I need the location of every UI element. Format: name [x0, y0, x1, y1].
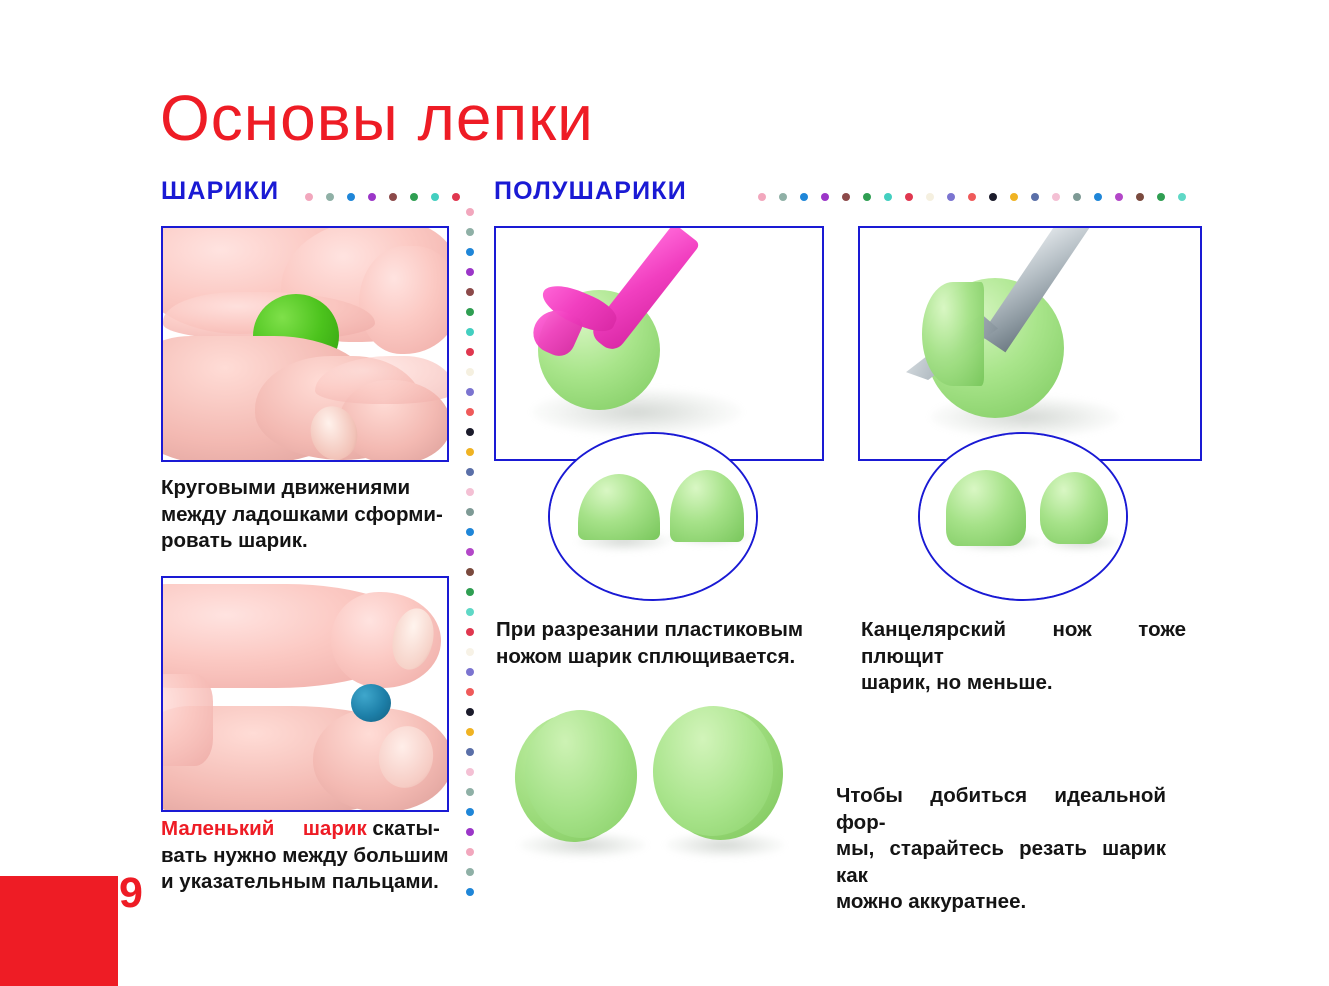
photo-fingers-small-ball — [161, 576, 449, 812]
decorative-dot — [1157, 193, 1165, 201]
decorative-dot — [347, 193, 355, 201]
caption-plastic-knife: При разрезании пластиковым ножом шарик с… — [496, 617, 808, 670]
section-heading-balls: ШАРИКИ — [161, 177, 279, 206]
decorative-dot — [466, 628, 474, 636]
dotted-column-divider — [466, 208, 478, 908]
decorative-dot — [410, 193, 418, 201]
decorative-dot — [466, 748, 474, 756]
caption-accuracy-line3: можно аккуратнее. — [836, 889, 1166, 916]
photo-utility-knife-cut-image — [860, 228, 1200, 459]
decorative-dot — [466, 768, 474, 776]
decorative-dot — [466, 228, 474, 236]
photo-fingers-small-ball-image — [163, 578, 447, 810]
photo-hands-rolling-ball-image — [163, 228, 447, 460]
caption-small-ball: Маленький шарик скаты- вать нужно между … — [161, 816, 454, 896]
decorative-dot — [863, 193, 871, 201]
decorative-dot — [326, 193, 334, 201]
decorative-dot — [466, 828, 474, 836]
caption-small-ball-line1: Маленький шарик скаты- — [161, 816, 454, 843]
caption-rolling-ball-line3: ровать шарик. — [161, 528, 449, 555]
decorative-dot — [947, 193, 955, 201]
decorative-dot — [466, 328, 474, 336]
decorative-dot — [466, 808, 474, 816]
caption-accuracy-line1: Чтобы добиться идеальной фор- — [836, 783, 1166, 836]
decorative-dot — [466, 548, 474, 556]
dotted-rule-halves — [758, 193, 1198, 205]
page-number: 9 — [119, 872, 143, 915]
decorative-dot — [466, 468, 474, 476]
decorative-dot — [466, 308, 474, 316]
caption-accent-word-2: шарик — [303, 817, 367, 840]
decorative-dot — [466, 648, 474, 656]
caption-utility-knife: Канцелярский нож тоже плющит шарик, но м… — [861, 617, 1186, 697]
caption-rolling-ball: Круговыми движениями между ладошками сфо… — [161, 475, 449, 555]
decorative-dot — [305, 193, 313, 201]
inset-utility-knife-halves — [918, 432, 1128, 601]
decorative-dot — [1178, 193, 1186, 201]
decorative-dot — [466, 368, 474, 376]
decorative-dot — [466, 688, 474, 696]
decorative-dot — [466, 728, 474, 736]
decorative-dot — [466, 428, 474, 436]
decorative-dot — [1073, 193, 1081, 201]
photo-plastic-knife-cut-image — [496, 228, 822, 459]
inset-plastic-knife-halves-image — [550, 434, 756, 599]
decorative-dot — [452, 193, 460, 201]
decorative-dot — [1052, 193, 1060, 201]
decorative-dot — [431, 193, 439, 201]
caption-accent-word-1: Маленький — [161, 817, 274, 840]
caption-plastic-knife-line2: ножом шарик сплющивается. — [496, 644, 808, 671]
decorative-dot — [800, 193, 808, 201]
page-title: Основы лепки — [160, 86, 594, 150]
photo-plastic-knife-cut — [494, 226, 824, 461]
caption-small-ball-line2: вать нужно между большим — [161, 843, 454, 870]
decorative-dot — [758, 193, 766, 201]
decorative-dot — [1094, 193, 1102, 201]
decorative-dot — [1010, 193, 1018, 201]
decorative-dot — [466, 508, 474, 516]
decorative-dot — [466, 588, 474, 596]
decorative-dot — [466, 208, 474, 216]
decorative-dot — [368, 193, 376, 201]
page-root: Основы лепки ШАРИКИ ПОЛУШАРИКИ — [0, 0, 1329, 986]
decorative-dot — [466, 408, 474, 416]
section-heading-halves: ПОЛУШАРИКИ — [494, 177, 687, 206]
decorative-dot — [466, 448, 474, 456]
decorative-dot — [989, 193, 997, 201]
decorative-dot — [466, 268, 474, 276]
caption-utility-knife-line2: шарик, но меньше. — [861, 670, 1186, 697]
decorative-dot — [389, 193, 397, 201]
decorative-dot — [466, 528, 474, 536]
decorative-dot — [1115, 193, 1123, 201]
decorative-dot — [466, 668, 474, 676]
decorative-dot — [466, 488, 474, 496]
photo-two-discs — [497, 694, 797, 869]
decorative-dot — [926, 193, 934, 201]
red-corner-block — [0, 876, 118, 986]
decorative-dot — [968, 193, 976, 201]
decorative-dot — [466, 608, 474, 616]
decorative-dot — [842, 193, 850, 201]
decorative-dot — [466, 348, 474, 356]
decorative-dot — [884, 193, 892, 201]
decorative-dot — [905, 193, 913, 201]
caption-small-ball-line3: и указательным пальцами. — [161, 869, 454, 896]
caption-utility-knife-line1: Канцелярский нож тоже плющит — [861, 617, 1186, 670]
caption-accuracy-line2: мы, старайтесь резать шарик как — [836, 836, 1166, 889]
inset-plastic-knife-halves — [548, 432, 758, 601]
decorative-dot — [466, 708, 474, 716]
caption-accuracy: Чтобы добиться идеальной фор- мы, старай… — [836, 783, 1166, 916]
photo-hands-rolling-ball — [161, 226, 449, 462]
caption-rolling-ball-line2: между ладошками сформи- — [161, 502, 449, 529]
decorative-dot — [466, 248, 474, 256]
decorative-dot — [466, 288, 474, 296]
decorative-dot — [466, 788, 474, 796]
decorative-dot — [1031, 193, 1039, 201]
inset-utility-knife-halves-image — [920, 434, 1126, 599]
caption-small-ball-rest1: скаты- — [372, 817, 439, 840]
decorative-dot — [779, 193, 787, 201]
dotted-rule-balls — [305, 193, 460, 205]
decorative-dot — [1136, 193, 1144, 201]
caption-plastic-knife-line1: При разрезании пластиковым — [496, 617, 808, 644]
decorative-dot — [466, 868, 474, 876]
decorative-dot — [466, 848, 474, 856]
photo-two-discs-image — [497, 694, 797, 869]
photo-utility-knife-cut — [858, 226, 1202, 461]
caption-rolling-ball-line1: Круговыми движениями — [161, 475, 449, 502]
decorative-dot — [466, 568, 474, 576]
decorative-dot — [821, 193, 829, 201]
decorative-dot — [466, 388, 474, 396]
decorative-dot — [466, 888, 474, 896]
